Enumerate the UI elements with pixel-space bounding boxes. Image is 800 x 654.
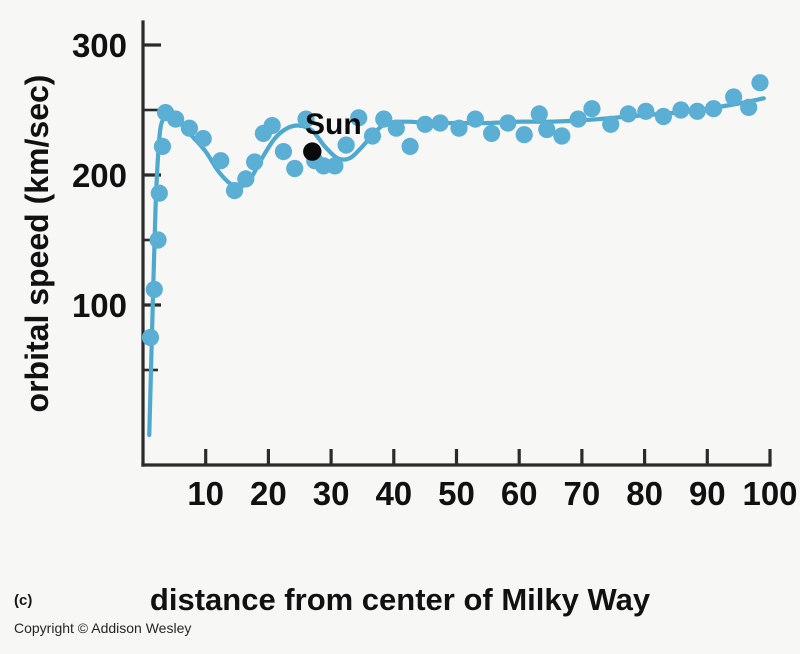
y-tick-label: 100 [72,287,127,324]
data-point [531,105,548,122]
data-point [751,74,768,91]
chart-axes [143,22,770,465]
data-point [195,130,212,147]
data-point [181,120,198,137]
data-point [146,281,163,298]
data-point [326,157,343,174]
data-point [264,117,281,134]
data-point [583,100,600,117]
data-point [237,170,254,187]
data-points [142,74,769,346]
y-tick-label: 300 [72,27,127,64]
data-point [149,231,166,248]
x-axis-title-line1: distance from center of Milky Way [0,580,800,619]
data-point [672,101,689,118]
data-point [450,120,467,137]
y-tick-label: 200 [72,157,127,194]
data-point [212,152,229,169]
data-point [388,120,405,137]
sun-marker [303,142,321,160]
fit-curve-path [149,98,763,435]
data-point [689,103,706,120]
data-point [402,138,419,155]
data-point [286,160,303,177]
data-point [364,127,381,144]
data-point [151,185,168,202]
data-point [499,114,516,131]
data-point [725,88,742,105]
panel-letter: (c) [14,592,32,609]
data-point [417,116,434,133]
data-point [602,116,619,133]
data-point [142,329,159,346]
data-point [154,138,171,155]
figure-panel: 102030405060708090100100200300 orbital s… [0,0,800,654]
data-point [432,114,449,131]
data-point [637,103,654,120]
data-point [516,126,533,143]
chart-tick-labels: 102030405060708090100100200300 [72,27,798,512]
data-point [655,108,672,125]
sun-annotation-label: Sun [305,108,362,142]
data-point [246,153,263,170]
data-point [538,121,555,138]
y-axis-title: orbital speed (km/sec) [19,75,55,413]
y-axis-title-text: orbital speed (km/sec) [19,75,55,413]
data-point [467,111,484,128]
data-point [570,111,587,128]
data-point [275,143,292,160]
data-point [620,105,637,122]
data-point [705,100,722,117]
sun-data-point [303,142,321,160]
rotation-curve-line [149,98,763,435]
data-point [553,127,570,144]
data-point [483,125,500,142]
data-point [740,99,757,116]
copyright-notice: Copyright © Addison Wesley [14,620,191,636]
